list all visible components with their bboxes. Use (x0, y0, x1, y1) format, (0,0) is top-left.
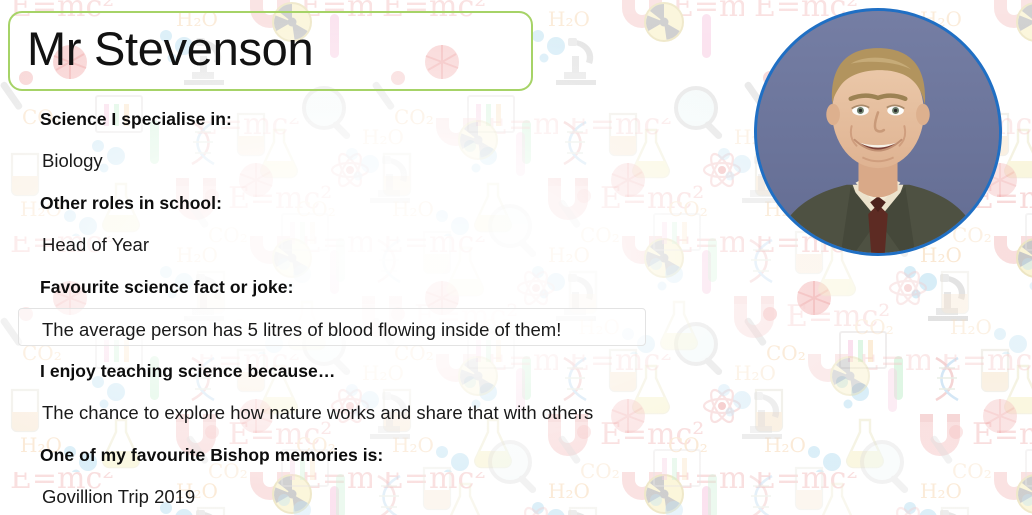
field-row: Science I specialise in: (0, 104, 720, 146)
field-row: Biology (0, 146, 720, 188)
field-question-label: I enjoy teaching science because… (40, 356, 335, 386)
profile-fields: Science I specialise in: Biology Other r… (0, 104, 720, 515)
field-question-label: Favourite science fact or joke: (40, 272, 293, 302)
field-row: Head of Year (0, 230, 720, 272)
teacher-portrait-photo (754, 8, 1002, 256)
field-row: Other roles in school: (0, 188, 720, 230)
field-row: The chance to explore how nature works a… (0, 398, 720, 440)
field-question-label: One of my favourite Bishop memories is: (40, 440, 383, 470)
field-answer-value: Biology (42, 146, 103, 176)
field-answer-value: The average person has 5 litres of blood… (42, 315, 561, 345)
field-row: I enjoy teaching science because… (0, 356, 720, 398)
page-title: Mr Stevenson (27, 20, 313, 78)
field-answer-value: Head of Year (42, 230, 149, 260)
field-question-label: Science I specialise in: (40, 104, 232, 134)
field-row-boxed: The average person has 5 litres of blood… (0, 314, 720, 356)
field-question-label: Other roles in school: (40, 188, 222, 218)
field-row: Govillion Trip 2019 (0, 482, 720, 515)
field-answer-value: Govillion Trip 2019 (42, 482, 195, 512)
teacher-profile-card: E=mc² H₂O CO₂ (0, 0, 1032, 515)
field-row: One of my favourite Bishop memories is: (0, 440, 720, 482)
field-answer-value: The chance to explore how nature works a… (42, 398, 593, 428)
